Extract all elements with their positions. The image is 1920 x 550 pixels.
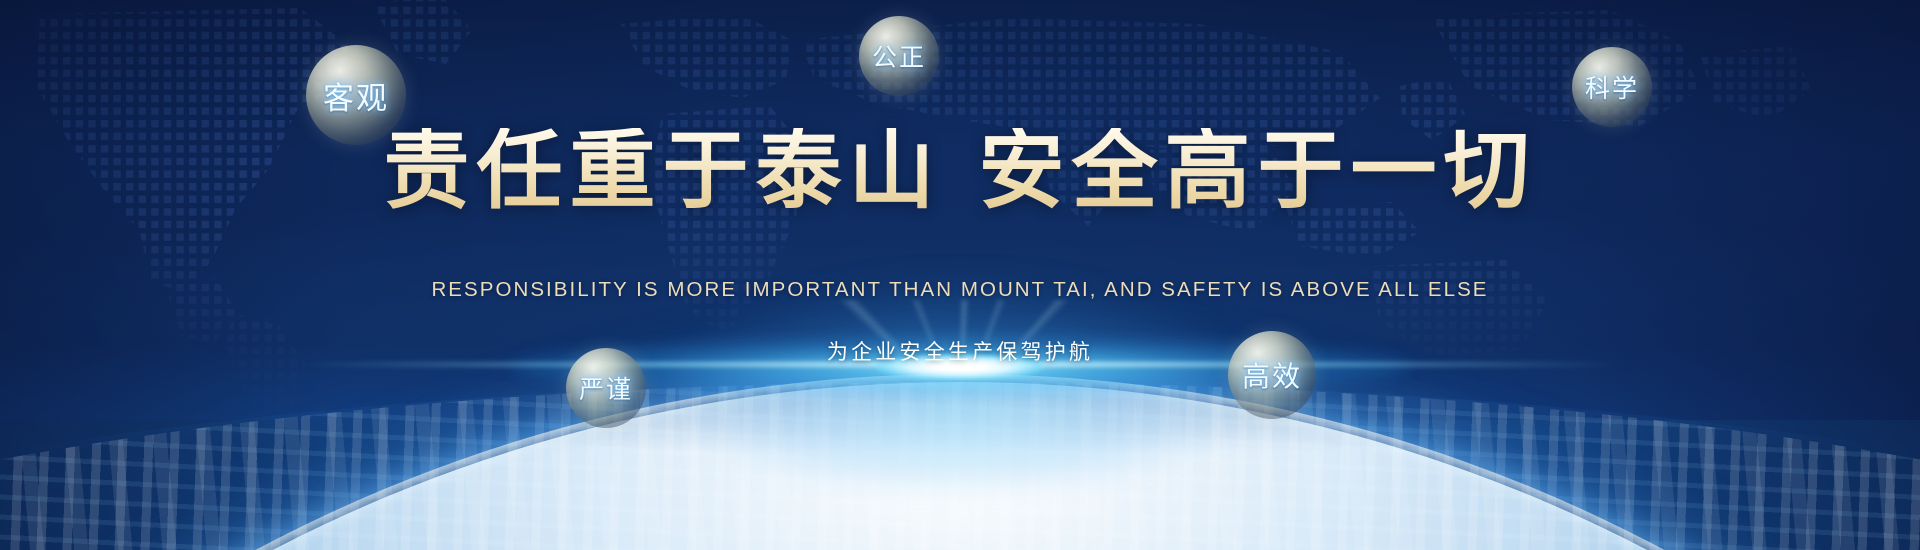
keyword-sphere[interactable]: 严谨: [566, 348, 646, 428]
keyword-sphere-label: 客观: [323, 73, 389, 118]
keyword-sphere[interactable]: 客观: [306, 45, 406, 145]
keyword-sphere[interactable]: 高效: [1228, 331, 1316, 419]
keyword-sphere[interactable]: 科学: [1572, 47, 1652, 127]
safety-banner: 责任重于泰山 安全高于一切 RESPONSIBILITY IS MORE IMP…: [0, 0, 1920, 550]
subtitle-chinese: 为企业安全生产保驾护航: [0, 336, 1920, 366]
subtitle-english: RESPONSIBILITY IS MORE IMPORTANT THAN MO…: [0, 278, 1920, 302]
keyword-sphere-label: 高效: [1242, 355, 1302, 395]
keyword-sphere-label: 严谨: [579, 370, 633, 406]
keyword-sphere-label: 公正: [872, 38, 926, 74]
keyword-sphere[interactable]: 公正: [859, 16, 939, 96]
headline: 责任重于泰山 安全高于一切: [0, 128, 1920, 214]
keyword-sphere-label: 科学: [1585, 69, 1639, 105]
